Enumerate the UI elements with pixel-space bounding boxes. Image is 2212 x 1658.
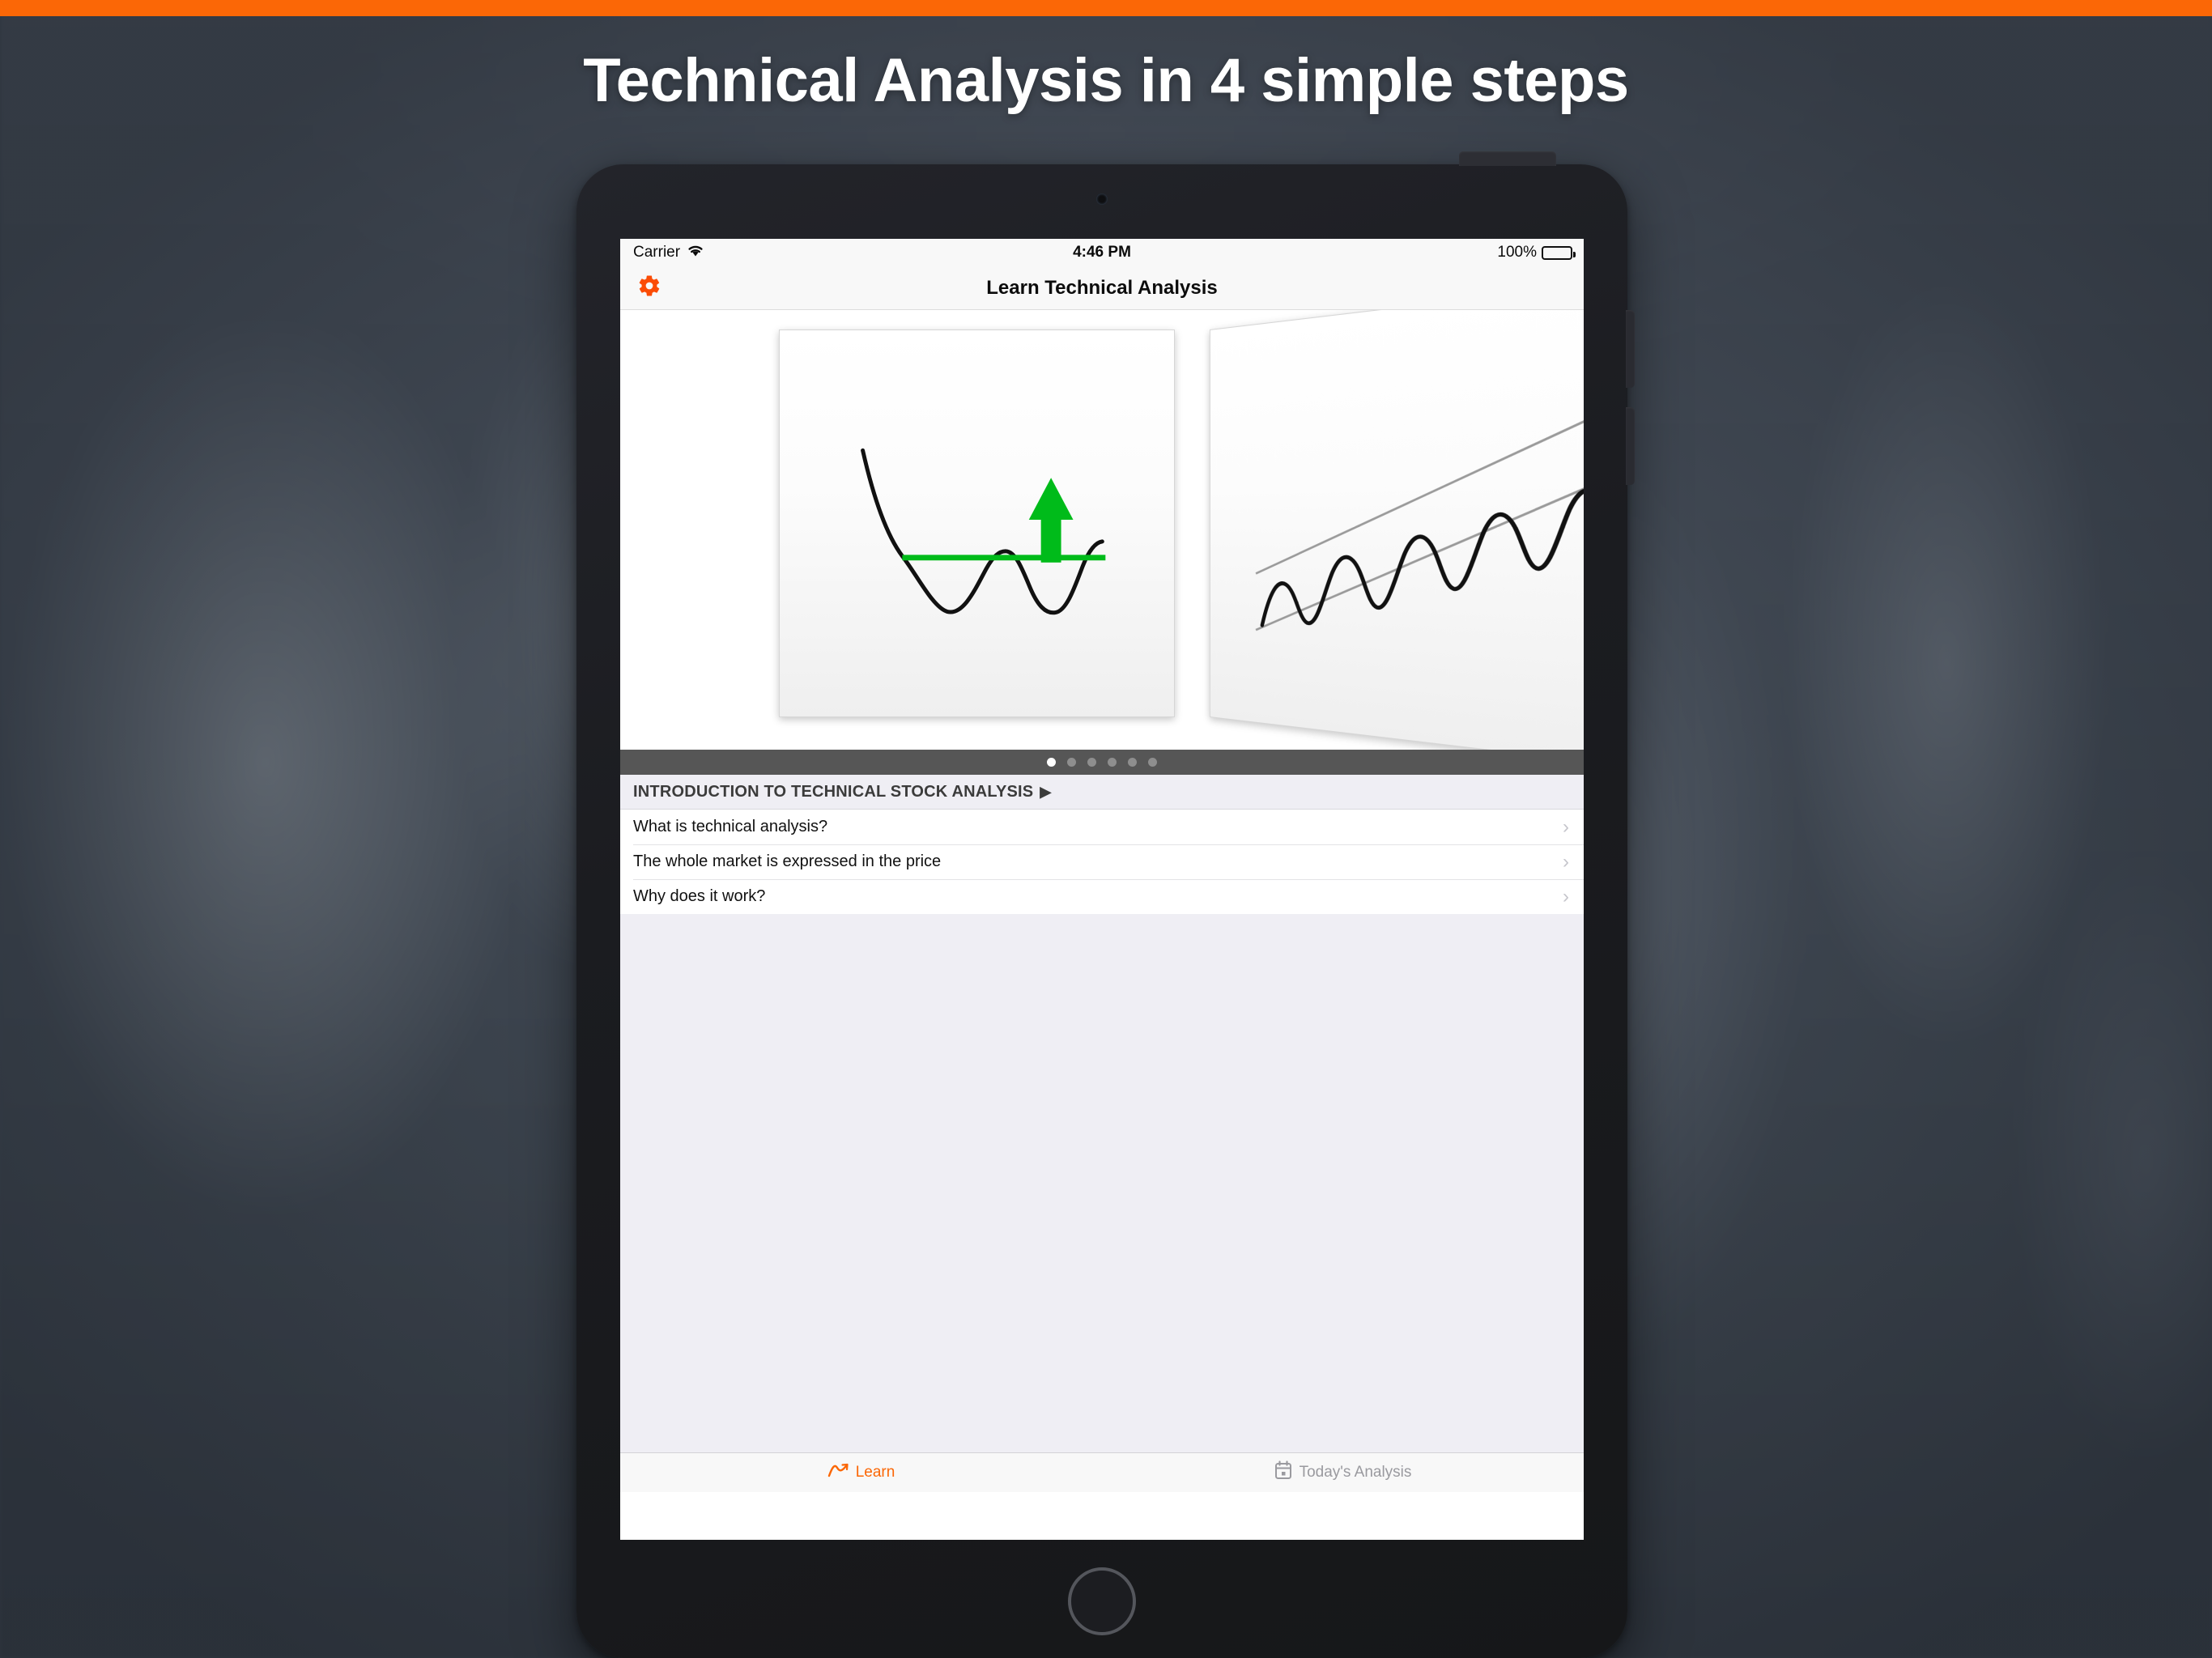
chevron-right-icon: › [1563,852,1569,872]
tablet-device-frame: Carrier 4:46 PM 100% [576,164,1627,1658]
battery-percent-label: 100% [1497,244,1537,261]
list-item-label: What is technical analysis? [633,818,1563,836]
list-item-label: Why does it work? [633,887,1563,906]
tab-bar: Learn Today's Analysis [620,1452,1584,1492]
caret-right-icon: ▶ [1040,784,1051,801]
page-dot-2[interactable] [1067,758,1076,767]
nav-title: Learn Technical Analysis [620,277,1584,300]
status-bar: Carrier 4:46 PM 100% [620,239,1584,266]
status-bar-right: 100% [1497,244,1572,261]
power-button[interactable] [1459,151,1556,166]
volume-up-button[interactable] [1626,310,1635,388]
top-accent-bar [0,0,2212,16]
list-item-whole-market-expressed-in-price[interactable]: The whole market is expressed in the pri… [620,844,1584,879]
breakout-arrow [1029,478,1074,563]
tab-todays-analysis[interactable]: Today's Analysis [1102,1453,1584,1492]
page-dot-4[interactable] [1108,758,1117,767]
list-item-why-does-it-work[interactable]: Why does it work? › [620,879,1584,914]
trend-chart-icon [827,1462,849,1483]
page-dot-5[interactable] [1128,758,1137,767]
section-header-label: INTRODUCTION TO TECHNICAL STOCK ANALYSIS [633,783,1033,801]
page-dot-6[interactable] [1148,758,1157,767]
page-dot-3[interactable] [1087,758,1096,767]
battery-full-icon [1542,246,1572,260]
volume-down-button[interactable] [1626,407,1635,485]
carousel-slide-ascending-channel[interactable] [1210,310,1584,750]
tab-label: Today's Analysis [1300,1464,1412,1482]
tab-label: Learn [856,1464,895,1482]
chevron-right-icon: › [1563,818,1569,837]
lessons-list: INTRODUCTION TO TECHNICAL STOCK ANALYSIS… [620,775,1584,1492]
list-item-what-is-technical-analysis[interactable]: What is technical analysis? › [620,810,1584,844]
navigation-bar: Learn Technical Analysis [620,266,1584,310]
chevron-right-icon: › [1563,887,1569,907]
page-title: Technical Analysis in 4 simple steps [0,45,2212,116]
ascending-channel-chart [1210,310,1584,750]
home-button[interactable] [1068,1567,1136,1635]
status-bar-clock: 4:46 PM [620,244,1584,261]
double-bottom-chart [780,330,1174,716]
list-item-label: The whole market is expressed in the pri… [633,852,1563,871]
tab-learn[interactable]: Learn [620,1453,1102,1492]
pattern-carousel[interactable] [620,310,1584,750]
page-dot-1[interactable] [1047,758,1056,767]
carousel-slide-double-bottom[interactable] [779,329,1175,717]
carousel-page-control[interactable] [620,750,1584,775]
section-header-introduction[interactable]: INTRODUCTION TO TECHNICAL STOCK ANALYSIS… [620,775,1584,810]
device-screen: Carrier 4:46 PM 100% [620,239,1584,1540]
calendar-icon [1274,1460,1292,1485]
front-camera-icon [1096,193,1108,205]
